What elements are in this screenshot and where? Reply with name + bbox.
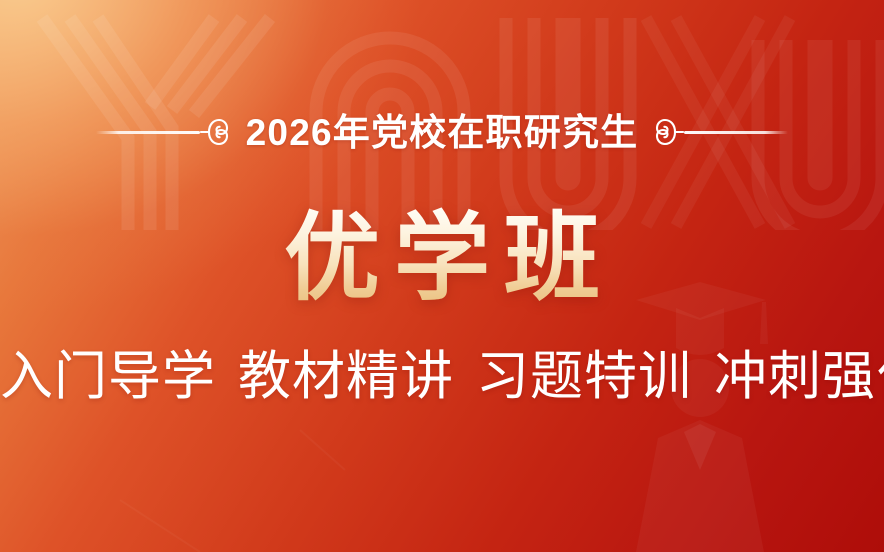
headline: 优学班 <box>0 207 884 311</box>
feature-item-1: 入门导学 <box>0 347 216 406</box>
title-row: 2026年党校在职研究生 <box>0 104 884 160</box>
promo-banner: 2026年党校在职研究生 优学班 入门导学教材精讲习题特训冲刺强化 <box>0 0 884 552</box>
cloud-flourish-left-icon <box>200 115 230 149</box>
graduate-silhouette <box>636 282 768 552</box>
sheen-streaks <box>120 430 345 552</box>
feature-item-2: 教材精讲 <box>238 347 454 406</box>
title-rule-right <box>684 131 788 134</box>
feature-item-4: 冲刺强化 <box>714 347 884 406</box>
title-rule-left <box>96 131 200 134</box>
cloud-flourish-right-icon <box>654 115 684 149</box>
feature-list: 入门导学教材精讲习题特训冲刺强化 <box>0 348 884 406</box>
feature-item-3: 习题特训 <box>476 347 692 406</box>
page-title: 2026年党校在职研究生 <box>236 114 649 151</box>
